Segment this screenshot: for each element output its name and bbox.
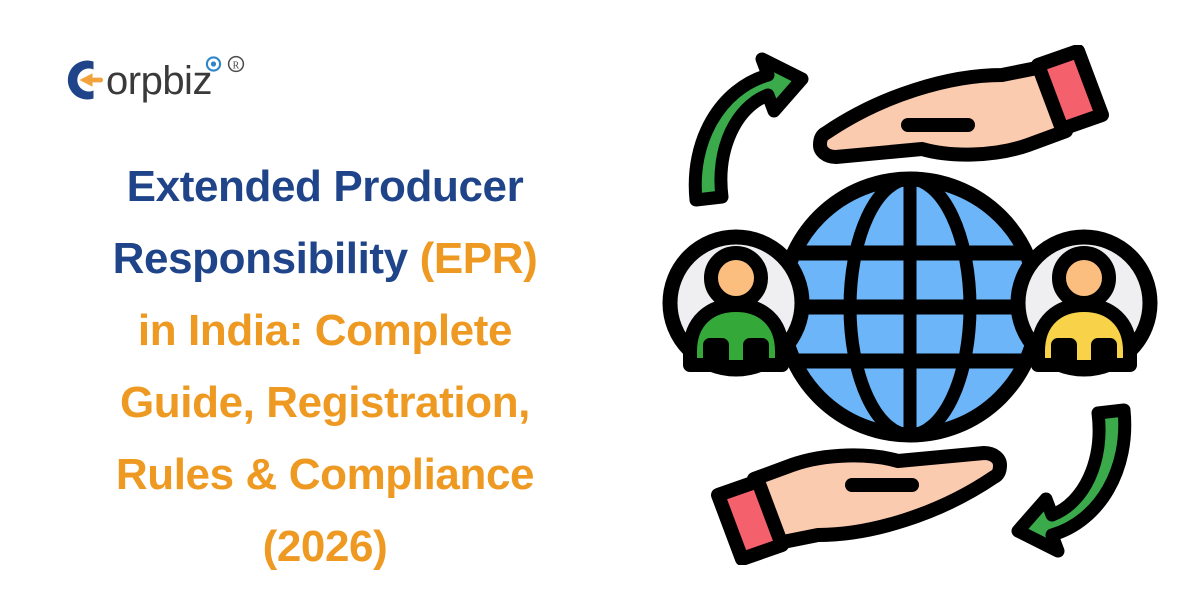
headline-line-6: (2026) — [263, 522, 388, 571]
c-arrow-icon — [80, 73, 104, 86]
arrow-top-left-icon — [695, 59, 802, 200]
corpbiz-logo[interactable]: orpbiz R — [62, 52, 262, 108]
logo-i-dot-icon — [206, 57, 220, 71]
headline-line-3: in India: Complete — [138, 306, 512, 355]
text-column: orpbiz R Extended Producer Responsibilit… — [0, 0, 640, 600]
headline-line-1: Extended Producer — [127, 162, 524, 211]
person-left-icon — [670, 237, 802, 369]
registered-trademark-icon: R — [229, 57, 244, 72]
hand-top-icon — [820, 51, 1102, 157]
headline-line-2-orange: (EPR) — [420, 234, 538, 283]
globe-icon — [782, 179, 1038, 435]
person-right-icon — [1018, 237, 1150, 369]
hand-bottom-icon — [718, 453, 1000, 559]
svg-text:R: R — [233, 60, 240, 71]
arrow-bottom-right-icon — [1018, 410, 1125, 551]
headline-line-2-navy: Responsibility — [113, 234, 420, 283]
logo-wordmark: orpbiz — [106, 59, 212, 103]
headline-line-4: Guide, Registration, — [120, 378, 530, 427]
page-title: Extended Producer Responsibility (EPR) i… — [30, 151, 620, 583]
epr-circular-economy-illustration — [650, 45, 1170, 565]
epr-banner: orpbiz R Extended Producer Responsibilit… — [0, 0, 1200, 600]
headline-line-5: Rules & Compliance — [116, 450, 534, 499]
